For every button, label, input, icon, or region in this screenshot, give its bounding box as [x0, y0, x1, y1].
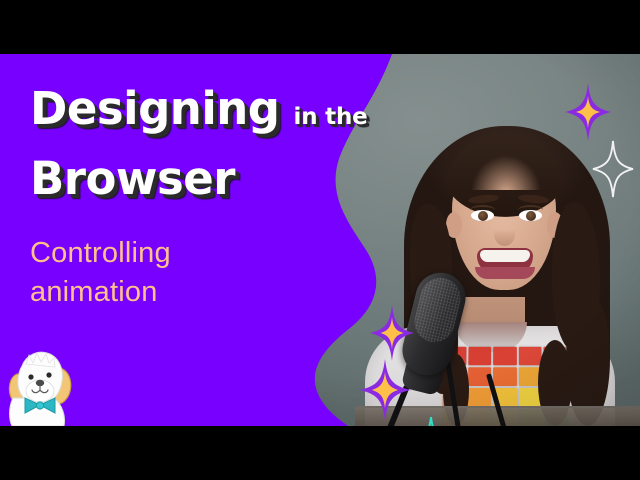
sparkle-desk-teal	[414, 417, 448, 426]
video-frame: Designing in the Browser Controlling ani…	[0, 54, 640, 426]
letterbox-bottom	[0, 426, 640, 480]
sparkle-top-right-purple	[565, 83, 611, 146]
brand-dog-logo	[4, 350, 78, 426]
sparkle-lower-purple	[359, 359, 411, 426]
video-thumbnail: Designing in the Browser Controlling ani…	[0, 0, 640, 480]
sparkle-right-white	[592, 140, 634, 203]
sparkle-mic-purple	[370, 305, 414, 366]
letterbox-top	[0, 0, 640, 54]
